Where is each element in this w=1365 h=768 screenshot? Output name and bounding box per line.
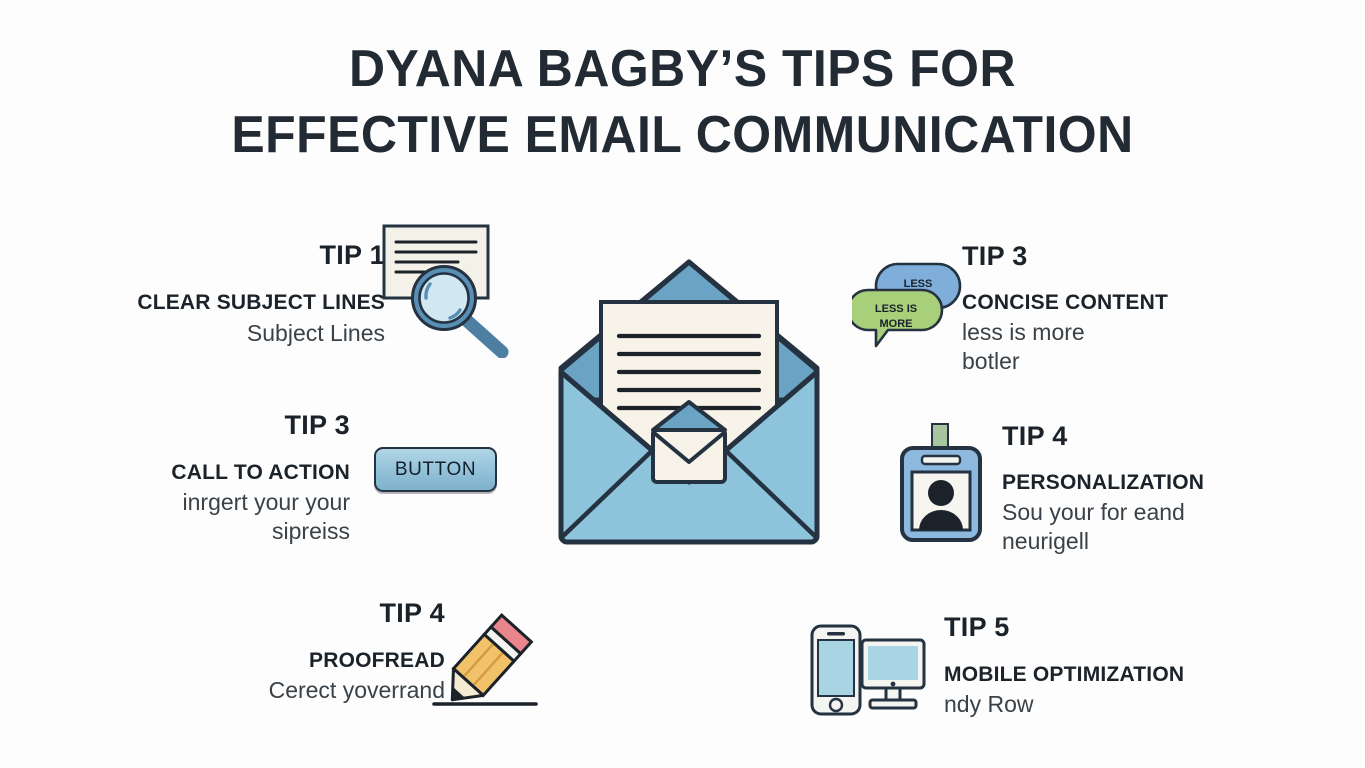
page-title: DYANA BAGBY’S TIPS FOR EFFECTIVE EMAIL C…	[0, 42, 1365, 162]
speech-bubbles-icon: LESS IS LESS IS MORE	[852, 258, 972, 368]
tip-subtitle-line2: sipreiss	[60, 517, 350, 546]
tip-number: TIP 4	[1002, 423, 1302, 450]
tip-subtitle-line1: Sou your for eand	[1002, 498, 1302, 527]
tip-heading: CALL TO ACTION	[60, 461, 350, 485]
title-line-1: DYANA BAGBY’S TIPS FOR	[27, 42, 1337, 96]
title-line-2: EFFECTIVE EMAIL COMMUNICATION	[27, 108, 1337, 162]
tip-heading: CONCISE CONTENT	[962, 291, 1262, 315]
tip-number: TIP 4	[175, 600, 445, 627]
tip-subtitle: Cerect yoverrand	[175, 676, 445, 705]
tip-heading: MOBILE OPTIMIZATION	[944, 663, 1244, 687]
bubble-green-line1: LESS IS	[875, 303, 917, 315]
tip-subtitle-line2: neurigell	[1002, 527, 1302, 556]
id-badge-icon	[898, 422, 984, 549]
button-icon[interactable]: BUTTON	[374, 447, 497, 492]
document-magnifier-icon	[378, 218, 518, 363]
tip-subtitle-line1: inrgert your your	[60, 488, 350, 517]
tip-call-to-action: TIP 3 CALL TO ACTION inrgert your your s…	[60, 412, 350, 546]
bubble-blue-line1: LESS	[904, 278, 933, 290]
pencil-icon	[430, 612, 540, 717]
tip-heading: PROOFREAD	[175, 649, 445, 673]
tip-subtitle: Subject Lines	[100, 319, 385, 348]
tip-subtitle-line1: less is more	[962, 318, 1262, 347]
tip-heading: CLEAR SUBJECT LINES	[100, 291, 385, 315]
tip-number: TIP 3	[962, 243, 1262, 270]
tip-number: TIP 5	[944, 614, 1244, 641]
tip-personalization: TIP 4 PERSONALIZATION Sou your for eand …	[1002, 423, 1302, 556]
tip-number: TIP 3	[60, 412, 350, 439]
phone-monitor-icon	[806, 618, 928, 727]
tip-subtitle: ndy Row	[944, 690, 1244, 719]
tip-concise-content: TIP 3 CONCISE CONTENT less is more botle…	[962, 243, 1262, 376]
open-envelope-with-letter-icon	[553, 250, 825, 550]
tip-clear-subject-lines: TIP 1 CLEAR SUBJECT LINES Subject Lines	[100, 242, 385, 348]
tip-mobile-optimization: TIP 5 MOBILE OPTIMIZATION ndy Row	[944, 614, 1244, 719]
tip-subtitle-line2: botler	[962, 347, 1262, 376]
tip-heading: PERSONALIZATION	[1002, 471, 1302, 495]
tip-proofread: TIP 4 PROOFREAD Cerect yoverrand	[175, 600, 445, 705]
bubble-green-line2: MORE	[880, 318, 913, 330]
tip-number: TIP 1	[100, 242, 385, 269]
button-label: BUTTON	[395, 459, 476, 481]
infographic-canvas: DYANA BAGBY’S TIPS FOR EFFECTIVE EMAIL C…	[0, 0, 1365, 768]
